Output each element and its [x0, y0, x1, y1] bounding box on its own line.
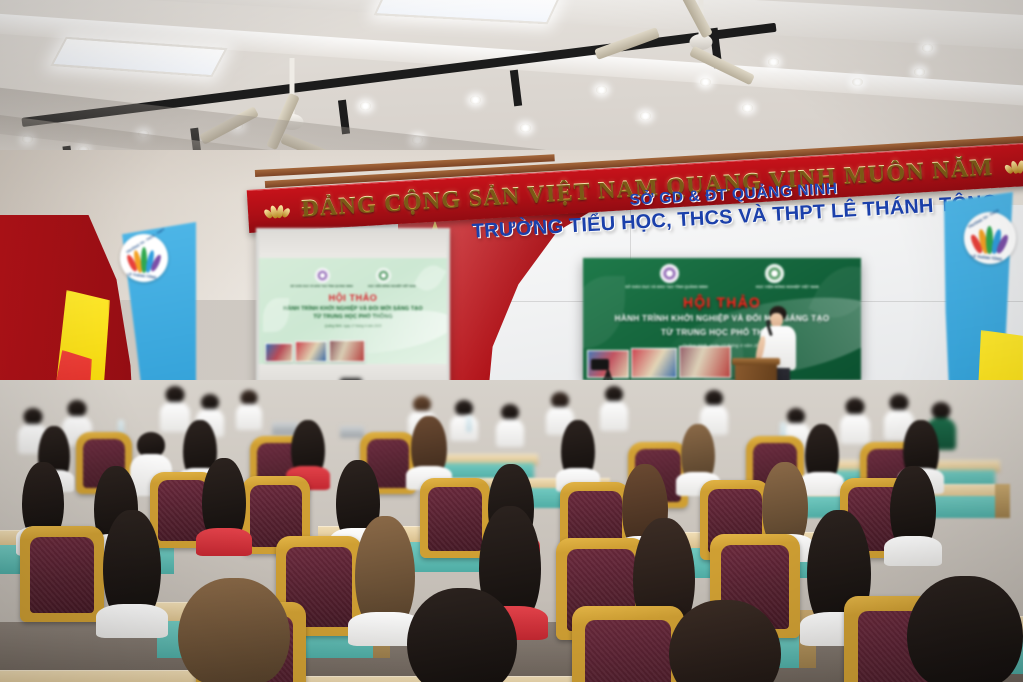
- downlight-icon: [360, 102, 371, 110]
- conference-photo-scene: ĐẢNG CỘNG SẢN VIỆT NAM QUANG VINH MUÔN N…: [0, 0, 1023, 682]
- logo-ring-text: TRƯỜNG TH - THCS LÊ THÁNH TÔNG: [964, 212, 1016, 264]
- downlight-icon: [596, 86, 607, 94]
- slide-org-left: SỞ GIÁO DỤC VÀ ĐÀO TẠO TỈNH QUẢNG NINH: [290, 285, 353, 288]
- ceiling-panel-light: [374, 0, 561, 24]
- downlight-icon: [470, 96, 481, 104]
- slide-photo-strip: [265, 340, 365, 362]
- vnua-seal-icon: [765, 264, 784, 283]
- water-bottle: [466, 416, 472, 432]
- audience-person-foreground: [660, 600, 790, 682]
- audience-person: [840, 398, 870, 444]
- lotus-ornament-icon: [1005, 157, 1023, 174]
- logo-ring-text: TRƯỜNG TH - THCS - THPT LÊ THÁNH TÔNG: [120, 234, 168, 282]
- projected-slide: SỞ GIÁO DỤC VÀ ĐÀO TẠO TỈNH QUẢNG NINH H…: [259, 258, 447, 364]
- audience-person: [196, 458, 252, 554]
- ceiling-fan: [636, 0, 766, 98]
- fan-blade: [675, 0, 713, 39]
- audience-person: [450, 400, 478, 440]
- audience-person: [600, 386, 628, 430]
- school-logo-right: TRƯỜNG TH - THCS LÊ THÁNH TÔNG: [964, 212, 1016, 264]
- audience-person-foreground: [898, 576, 1023, 682]
- backdrop-org-left: SỞ GIÁO DỤC VÀ ĐÀO TẠO TỈNH QUẢNG NINH: [625, 285, 708, 289]
- fan-blade: [689, 46, 755, 86]
- audience-person: [556, 420, 600, 490]
- chair: [20, 526, 104, 622]
- projection-screen: SỞ GIÁO DỤC VÀ ĐÀO TẠO TỈNH QUẢNG NINH H…: [256, 228, 450, 394]
- downlight-icon: [852, 78, 863, 86]
- audience-person: [96, 510, 168, 636]
- lotus-ornament-icon: [265, 202, 290, 219]
- microphone-head: [766, 320, 771, 325]
- doet-seal-icon: [660, 264, 679, 283]
- audience-person-foreground: [168, 578, 300, 682]
- downlight-icon: [922, 44, 933, 52]
- audience-person: [236, 390, 262, 430]
- vnua-seal-icon: [376, 268, 391, 283]
- school-logo-left: TRƯỜNG TH - THCS - THPT LÊ THÁNH TÔNG: [120, 234, 168, 282]
- rail-drop: [510, 70, 522, 107]
- downlight-icon: [742, 104, 753, 112]
- audience-person: [884, 466, 942, 564]
- downlight-icon: [914, 68, 925, 76]
- slide-org-right: HỌC VIỆN NÔNG NGHIỆP VIỆT NAM: [368, 285, 416, 288]
- audience-person-foreground: [398, 588, 526, 682]
- downlight-icon: [520, 124, 531, 132]
- video-camera-icon: [591, 359, 609, 370]
- downlight-icon: [768, 58, 779, 66]
- downlight-icon: [640, 112, 651, 120]
- screen-blank-top: [259, 231, 447, 258]
- audience-person: [496, 404, 524, 446]
- speaker-face: [770, 313, 783, 327]
- stage-backdrop: SỞ GIÁO DỤC VÀ ĐÀO TẠO TỈNH QUẢNG NINH H…: [583, 258, 861, 380]
- backdrop-org-right: HỌC VIỆN NÔNG NGHIỆP VIỆT NAM: [756, 285, 819, 289]
- doet-seal-icon: [315, 268, 330, 283]
- audience-area: [0, 380, 1023, 682]
